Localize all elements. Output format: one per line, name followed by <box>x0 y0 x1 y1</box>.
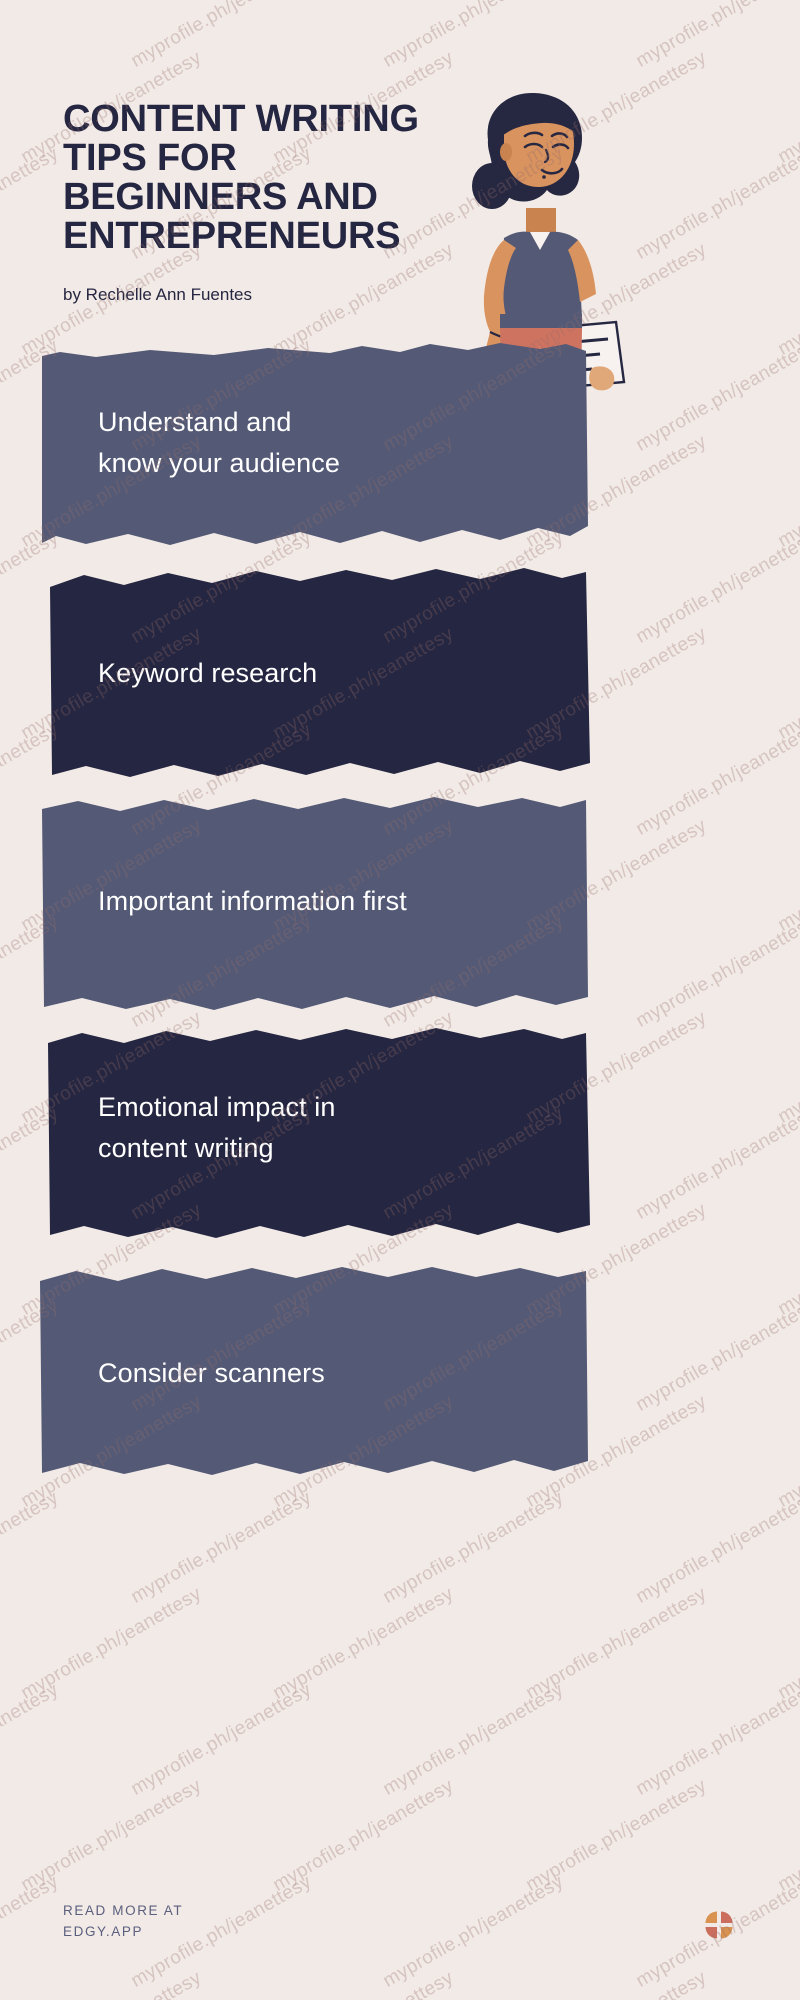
tip-banner-4-label: Emotional impact in content writing <box>98 1087 336 1169</box>
tip-1-line-1: Understand and <box>98 402 340 443</box>
tip-banner-5: Consider scanners <box>0 1265 800 1480</box>
tip-banner-2-label: Keyword research <box>98 653 317 694</box>
tip-3-line-1: Important information first <box>98 881 407 922</box>
tip-5-line-1: Consider scanners <box>98 1353 325 1394</box>
tip-banner-2: Keyword research <box>0 565 800 785</box>
site-label[interactable]: edgy.app <box>63 1921 183 1942</box>
tip-banner-4: Emotional impact in content writing <box>0 1025 800 1245</box>
tip-4-line-2: content writing <box>98 1128 336 1169</box>
tip-4-line-1: Emotional impact in <box>98 1087 336 1128</box>
edgy-pinwheel-logo <box>696 1902 742 1948</box>
footer: Read more at edgy.app <box>0 1900 800 2000</box>
tip-2-line-1: Keyword research <box>98 653 317 694</box>
tip-banner-1: Understand and know your audience <box>0 340 800 555</box>
tip-1-line-2: know your audience <box>98 443 340 484</box>
read-more-label: Read more at <box>63 1900 183 1921</box>
tip-banner-1-label: Understand and know your audience <box>98 402 340 484</box>
tips-banner-list: Understand and know your audience Keywor… <box>0 0 800 2000</box>
read-more-text: Read more at edgy.app <box>63 1900 183 1942</box>
tip-banner-3: Important information first <box>0 795 800 1015</box>
tip-banner-5-label: Consider scanners <box>98 1353 325 1394</box>
tip-banner-3-label: Important information first <box>98 881 407 922</box>
